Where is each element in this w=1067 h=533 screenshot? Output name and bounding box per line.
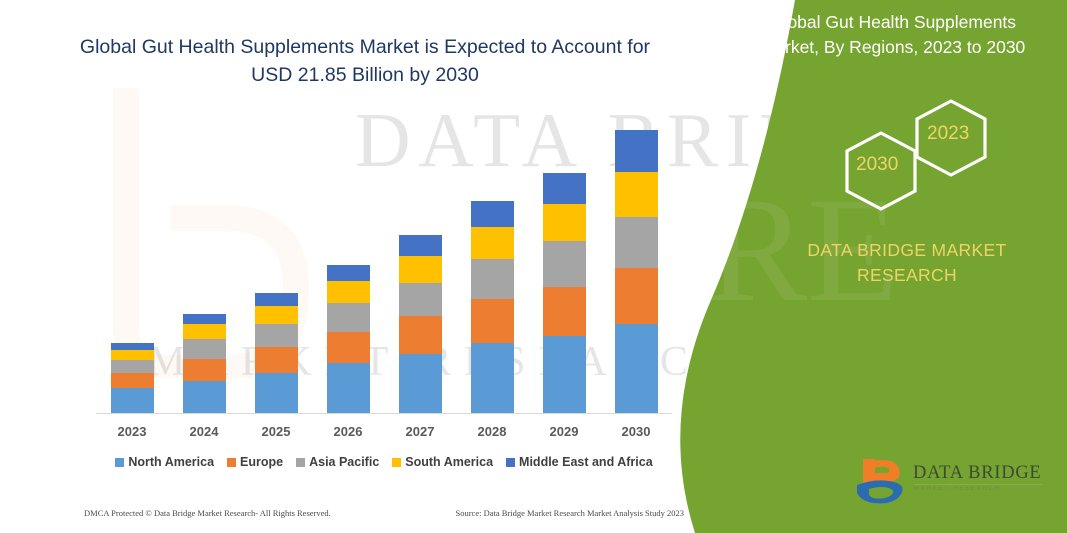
- footer: DMCA Protected © Data Bridge Market Rese…: [84, 508, 684, 518]
- page-title: Global Gut Health Supplements Market is …: [60, 34, 670, 89]
- panel-brand-text: DATA BRIDGE MARKET RESEARCH: [787, 238, 1027, 289]
- bar-segment[interactable]: [615, 268, 658, 324]
- logo-subtitle: MARKET RESEARCH: [914, 486, 1001, 492]
- hexagon-pair: 2023 2030: [799, 95, 1019, 225]
- bar-segment[interactable]: [543, 287, 586, 336]
- bar-segment[interactable]: [327, 363, 370, 413]
- bar-stack-2027[interactable]: [399, 235, 442, 413]
- bar-segment[interactable]: [255, 324, 298, 347]
- legend-label: South America: [405, 455, 493, 469]
- bar-segment[interactable]: [471, 343, 514, 413]
- legend-swatch-icon: [392, 458, 401, 467]
- bar-segment[interactable]: [399, 256, 442, 283]
- legend-item-north-america[interactable]: North America: [115, 455, 214, 469]
- bar-stack-2023[interactable]: [111, 343, 154, 413]
- x-axis-label-2026: 2026: [312, 424, 384, 439]
- legend-swatch-icon: [296, 458, 305, 467]
- bar-segment[interactable]: [615, 324, 658, 413]
- logo-divider: [914, 484, 1042, 485]
- x-axis-line: [96, 413, 672, 414]
- footer-copyright: DMCA Protected © Data Bridge Market Rese…: [84, 508, 331, 518]
- chart-plot-area: [96, 118, 672, 414]
- bar-segment[interactable]: [183, 324, 226, 339]
- right-green-panel: RE Global Gut Health Supplements Market,…: [677, 0, 1067, 533]
- legend-swatch-icon: [506, 458, 515, 467]
- bar-segment[interactable]: [255, 373, 298, 413]
- logo-wordmark: DATA BRIDGE: [913, 463, 1041, 484]
- bar-segment[interactable]: [615, 217, 658, 269]
- bar-segment[interactable]: [255, 293, 298, 306]
- bar-segment[interactable]: [471, 227, 514, 259]
- bar-segment[interactable]: [111, 350, 154, 360]
- bar-stack-2029[interactable]: [543, 173, 586, 413]
- bar-stack-2028[interactable]: [471, 201, 514, 413]
- infographic-root: DATA BRIDGE MARKET RESEARCH Global Gut H…: [0, 0, 1067, 533]
- bar-stack-2024[interactable]: [183, 314, 226, 413]
- x-axis-label-2024: 2024: [168, 424, 240, 439]
- bar-segment[interactable]: [327, 281, 370, 303]
- bar-segment[interactable]: [471, 201, 514, 227]
- legend-swatch-icon: [227, 458, 236, 467]
- footer-source: Source: Data Bridge Market Research Mark…: [455, 508, 684, 518]
- bar-segment[interactable]: [615, 130, 658, 171]
- bar-segment[interactable]: [111, 373, 154, 388]
- bar-segment[interactable]: [543, 173, 586, 204]
- bar-segment[interactable]: [399, 354, 442, 413]
- x-axis-label-2023: 2023: [96, 424, 168, 439]
- bar-segment[interactable]: [327, 265, 370, 282]
- legend-item-europe[interactable]: Europe: [227, 455, 283, 469]
- x-axis-label-2029: 2029: [528, 424, 600, 439]
- bar-segment[interactable]: [327, 332, 370, 363]
- bar-segment[interactable]: [471, 299, 514, 343]
- bar-segment[interactable]: [543, 336, 586, 413]
- legend-label: Europe: [240, 455, 283, 469]
- bar-segment[interactable]: [615, 172, 658, 217]
- hexagon-label-2030: 2030: [856, 154, 898, 176]
- bar-stack-2030[interactable]: [615, 130, 658, 413]
- legend-item-asia-pacific[interactable]: Asia Pacific: [296, 455, 379, 469]
- bar-segment[interactable]: [111, 388, 154, 413]
- x-axis-label-2027: 2027: [384, 424, 456, 439]
- x-axis-label-2028: 2028: [456, 424, 528, 439]
- legend-item-middle-east-and-africa[interactable]: Middle East and Africa: [506, 455, 653, 469]
- bar-segment[interactable]: [255, 347, 298, 373]
- data-bridge-logo: DATA BRIDGE MARKET RESEARCH: [855, 455, 1055, 513]
- panel-title: Global Gut Health Supplements Market, By…: [749, 10, 1037, 60]
- legend-label: Middle East and Africa: [519, 455, 653, 469]
- x-axis-label-2025: 2025: [240, 424, 312, 439]
- bar-segment[interactable]: [255, 306, 298, 324]
- bar-segment[interactable]: [183, 381, 226, 413]
- bar-segment[interactable]: [399, 235, 442, 256]
- hexagon-label-2023: 2023: [927, 123, 969, 145]
- stacked-bar-chart: [96, 118, 672, 416]
- bar-segment[interactable]: [471, 259, 514, 299]
- bar-segment[interactable]: [543, 204, 586, 241]
- chart-legend: North AmericaEuropeAsia PacificSouth Ame…: [96, 455, 672, 469]
- legend-label: Asia Pacific: [309, 455, 379, 469]
- bar-segment[interactable]: [327, 303, 370, 331]
- bar-stack-2025[interactable]: [255, 293, 298, 413]
- bar-segment[interactable]: [399, 283, 442, 317]
- logo-mark-icon: [855, 455, 911, 507]
- bar-stack-2026[interactable]: [327, 265, 370, 413]
- x-axis-labels: 20232024202520262027202820292030: [96, 424, 672, 444]
- bar-segment[interactable]: [183, 339, 226, 358]
- bar-segment[interactable]: [543, 241, 586, 286]
- legend-swatch-icon: [115, 458, 124, 467]
- legend-label: North America: [128, 455, 214, 469]
- bar-segment[interactable]: [183, 314, 226, 324]
- legend-item-south-america[interactable]: South America: [392, 455, 493, 469]
- x-axis-label-2030: 2030: [600, 424, 672, 439]
- bar-segment[interactable]: [111, 360, 154, 373]
- bar-segment[interactable]: [183, 359, 226, 381]
- bar-segment[interactable]: [399, 316, 442, 353]
